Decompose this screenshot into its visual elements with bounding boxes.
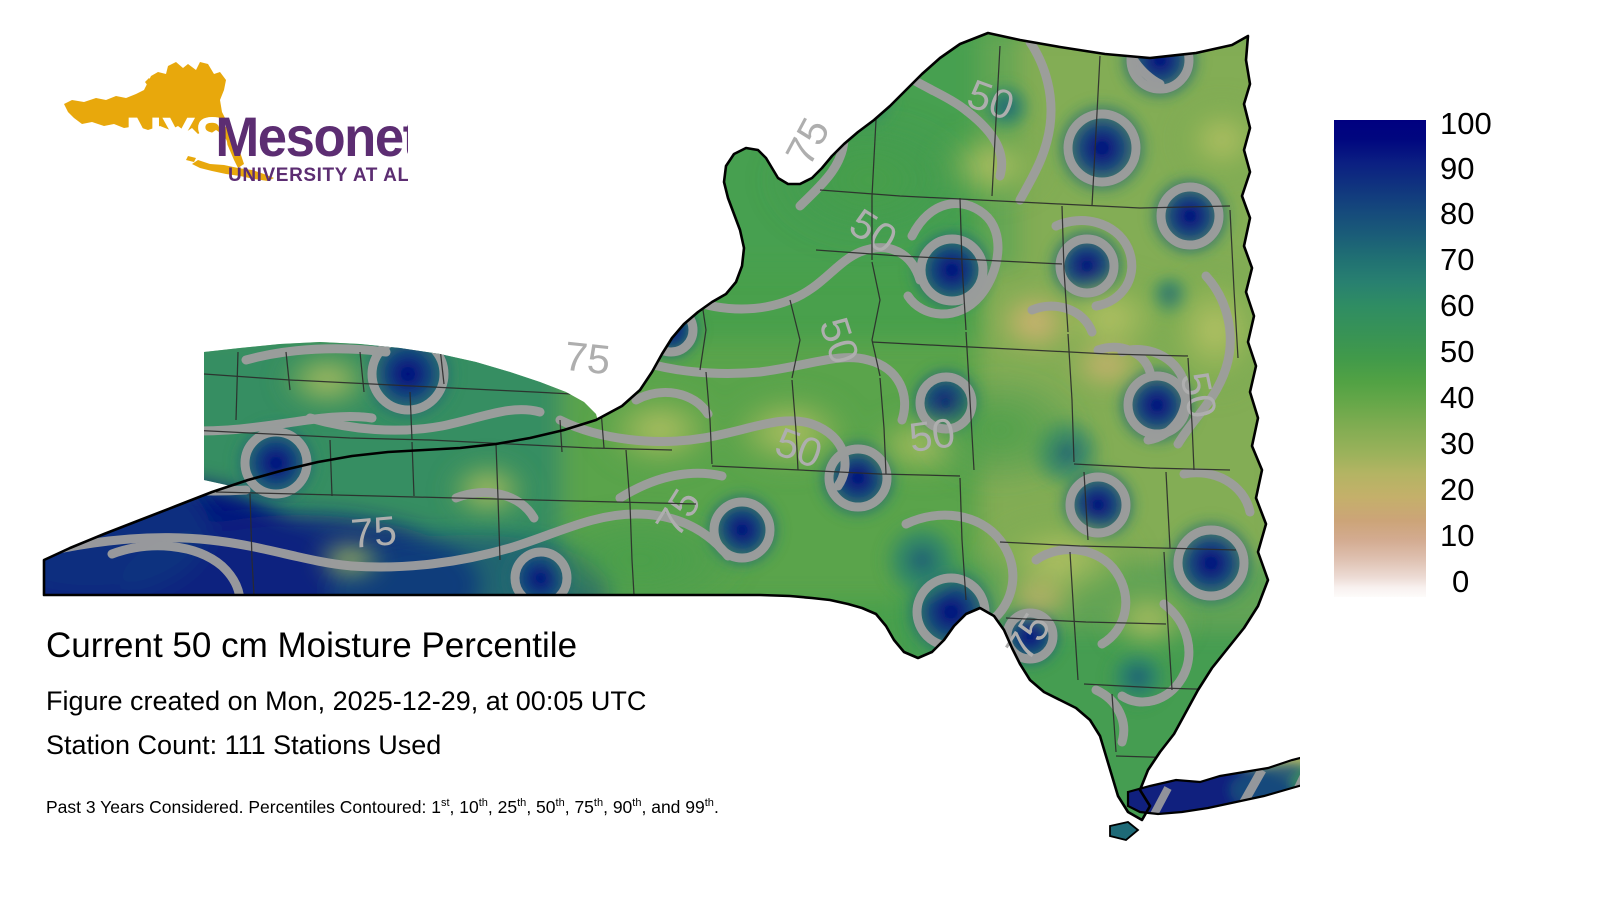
contour-label: 75 bbox=[349, 507, 398, 557]
created-timestamp: Figure created on Mon, 2025-12-29, at 00… bbox=[46, 684, 1046, 718]
colorbar-tick-60: 60 bbox=[1440, 290, 1474, 321]
contour-label: 75 bbox=[562, 333, 612, 384]
percentile-colorbar[interactable]: 100 90 80 70 60 50 40 30 20 10 0 bbox=[1334, 120, 1584, 610]
colorbar-gradient bbox=[1334, 120, 1426, 597]
page-title: Current 50 cm Moisture Percentile bbox=[46, 625, 1046, 667]
colorbar-tick-100: 100 bbox=[1440, 108, 1492, 139]
colorbar-tick-50: 50 bbox=[1440, 336, 1474, 367]
colorbar-tick-10: 10 bbox=[1440, 520, 1474, 551]
colorbar-tick-0: 0 bbox=[1452, 566, 1469, 597]
colorbar-tick-90: 90 bbox=[1440, 153, 1474, 184]
station-count-label: Station Count: 111 Stations Used bbox=[46, 728, 1046, 762]
colorbar-tick-40: 40 bbox=[1440, 382, 1474, 413]
colorbar-tick-80: 80 bbox=[1440, 198, 1474, 229]
figure-canvas: NYS Mesonet UNIVERSITY AT ALBANY bbox=[0, 0, 1600, 900]
contour-label: 50 bbox=[906, 409, 958, 461]
colorbar-tick-70: 70 bbox=[1440, 244, 1474, 275]
contour-label: 50 bbox=[1171, 368, 1225, 422]
colorbar-tick-20: 20 bbox=[1440, 474, 1474, 505]
contour-footnote: Past 3 Years Considered. Percentiles Con… bbox=[46, 796, 1046, 818]
colorbar-tick-30: 30 bbox=[1440, 428, 1474, 459]
caption-block: Current 50 cm Moisture Percentile Figure… bbox=[46, 625, 1046, 818]
